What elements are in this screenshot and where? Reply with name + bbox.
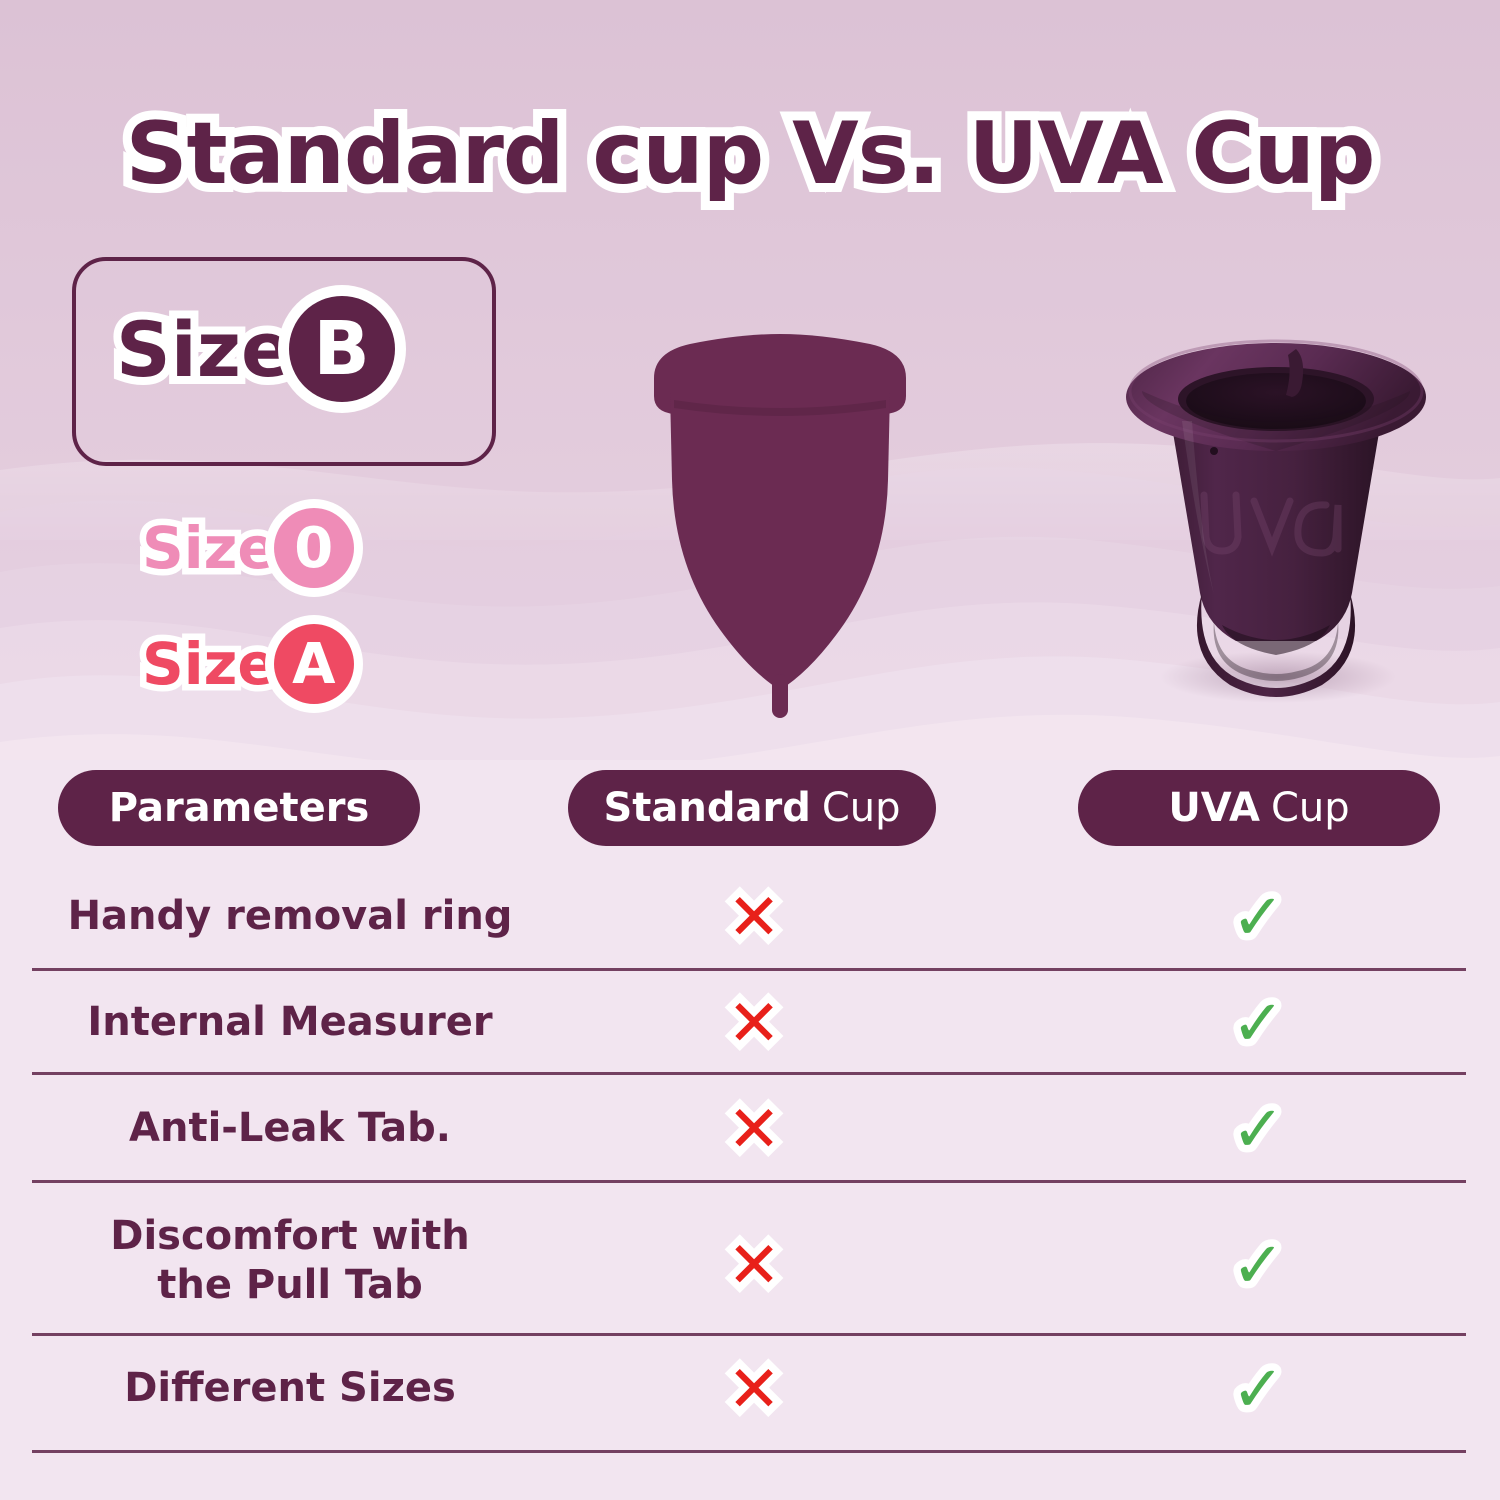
row-label-3: Discomfort with the Pull Tab [40,1212,540,1310]
row-3-standard-mark: ✕ [694,1234,814,1298]
row-2-standard-mark: ✕ [694,1098,814,1162]
header-uva-bold: UVA [1168,785,1260,831]
size-badge-b-letter: B [289,296,395,402]
row-1-uva-mark: ✓ [1198,992,1318,1056]
row-0-standard-mark: ✕ [694,886,814,950]
size-badge-0[interactable]: Size 0 [142,508,354,588]
table-header-standard-cup: Standard Cup [568,770,936,846]
row-divider-2 [32,1180,1466,1183]
row-divider-3 [32,1333,1466,1336]
size-badge-0-letter: 0 [274,508,354,588]
row-label-4: Different Sizes [40,1364,540,1413]
row-4-standard-mark: ✕ [694,1358,814,1422]
size-badge-a[interactable]: Size A [142,624,354,704]
size-badge-b-word: Size [116,305,293,394]
comparison-table: Parameters Standard Cup UVA Cup Handy re… [0,0,1500,1500]
size-badge-a-word: Size [142,630,277,698]
table-header-parameters: Parameters [58,770,420,846]
row-divider-1 [32,1072,1466,1075]
size-badge-0-word: Size [142,514,277,582]
row-0-uva-mark: ✓ [1198,886,1318,950]
row-1-standard-mark: ✕ [694,992,814,1056]
row-3-uva-mark: ✓ [1198,1234,1318,1298]
header-uva-regular: Cup [1271,785,1350,831]
header-parameters-bold: Parameters [109,785,370,831]
row-label-1: Internal Measurer [40,998,540,1047]
row-divider-4 [32,1450,1466,1453]
row-2-uva-mark: ✓ [1198,1098,1318,1162]
row-divider-0 [32,968,1466,971]
table-header-uva-cup: UVA Cup [1078,770,1440,846]
header-standard-bold: Standard [603,785,810,831]
row-label-0: Handy removal ring [40,892,540,941]
header-standard-regular: Cup [822,785,901,831]
size-badge-b[interactable]: Size B [116,296,395,402]
row-4-uva-mark: ✓ [1198,1358,1318,1422]
row-label-2: Anti-Leak Tab. [40,1104,540,1153]
size-badge-a-letter: A [274,624,354,704]
page-title: Standard cup Vs. UVA Cup [0,104,1500,204]
